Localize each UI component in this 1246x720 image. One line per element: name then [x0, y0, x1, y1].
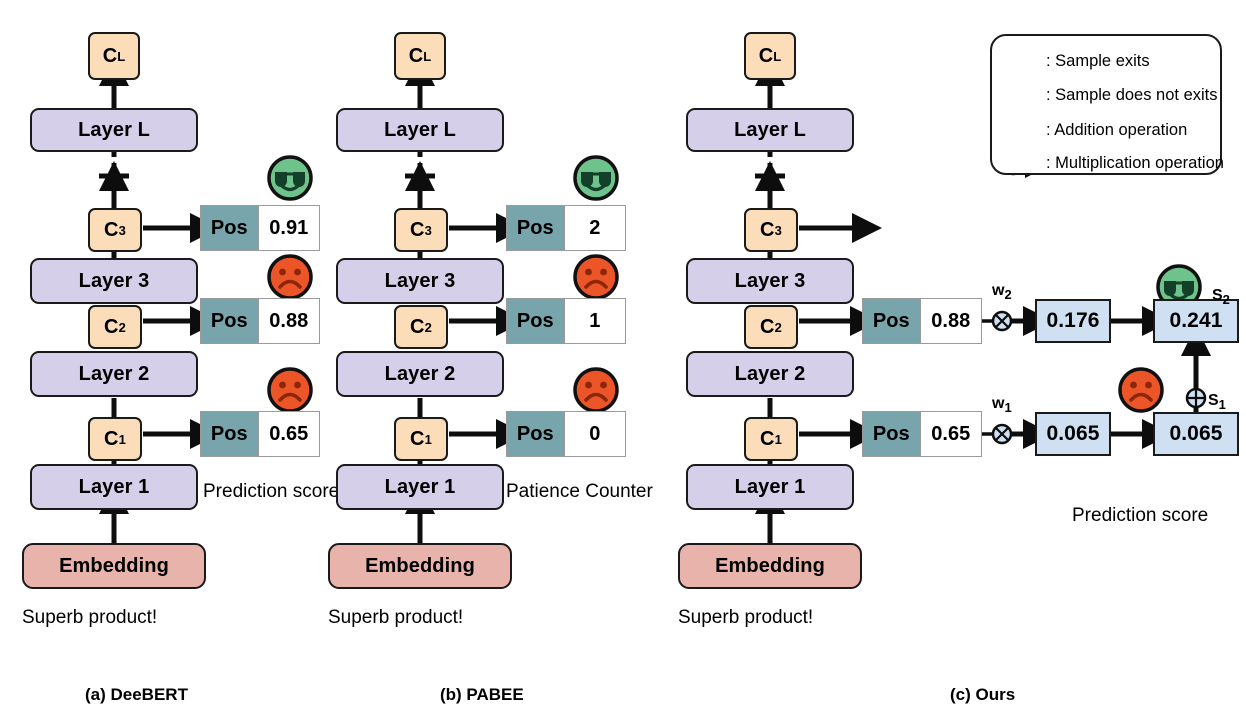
classifier-node-CL[interactable]: CL: [394, 32, 446, 80]
weight-symbol: w: [992, 282, 1004, 299]
pos-label: Pos: [507, 412, 564, 456]
classifier-label: C: [760, 219, 775, 242]
legend-item-multiplication-operation: : Multiplication operation: [1040, 152, 1224, 174]
pos-value: 2: [564, 206, 625, 250]
layer-node-L[interactable]: Layer L: [336, 108, 504, 152]
column-label-patience-counter: Patience Counter: [506, 481, 653, 503]
embedding-node[interactable]: Embedding: [22, 543, 206, 589]
pos-value: 0.88: [258, 299, 319, 343]
legend-label: : Addition operation: [1046, 121, 1187, 140]
layer-node-3[interactable]: Layer 3: [686, 258, 854, 304]
pos-label: Pos: [201, 299, 258, 343]
classifier-label: C: [409, 45, 424, 68]
pos-value: 0: [564, 412, 625, 456]
weighted-value-box-row1[interactable]: 0.065: [1035, 412, 1111, 456]
weight-subscript: 2: [1004, 287, 1011, 302]
layer-node-2[interactable]: Layer 2: [30, 351, 198, 397]
weight-label-w1: w1: [992, 395, 1012, 415]
classifier-subscript: 3: [775, 223, 782, 238]
pos-label: Pos: [201, 206, 258, 250]
s-symbol: S: [1208, 392, 1219, 409]
classifier-label: C: [104, 316, 119, 339]
pos-label: Pos: [507, 299, 564, 343]
layer-node-2[interactable]: Layer 2: [686, 351, 854, 397]
classifier-node-CL[interactable]: CL: [88, 32, 140, 80]
pos-value: 0.65: [258, 412, 319, 456]
layer-node-L[interactable]: Layer L: [686, 108, 854, 152]
readout-C1[interactable]: Pos 0.65: [200, 411, 320, 457]
classifier-node-C1[interactable]: C1: [744, 417, 798, 461]
pos-label: Pos: [507, 206, 564, 250]
classifier-subscript: 1: [119, 432, 126, 447]
readout-C2[interactable]: Pos 0.88: [200, 298, 320, 344]
pos-value: 0.91: [258, 206, 319, 250]
readout-C2[interactable]: Pos 1: [506, 298, 626, 344]
pos-value: 0.65: [920, 412, 981, 456]
legend-item-sample-exits: : Sample exits: [1040, 50, 1150, 72]
classifier-label: C: [410, 219, 425, 242]
input-sentence: Superb product!: [678, 607, 813, 629]
s-subscript: 1: [1219, 397, 1226, 412]
classifier-label: C: [103, 45, 118, 68]
classifier-node-C1[interactable]: C1: [88, 417, 142, 461]
classifier-subscript: 2: [119, 320, 126, 335]
readout-C2[interactable]: Pos 0.88: [862, 298, 982, 344]
pos-label: Pos: [863, 299, 920, 343]
embedding-node[interactable]: Embedding: [678, 543, 862, 589]
pos-label: Pos: [863, 412, 920, 456]
classifier-subscript: L: [117, 49, 125, 64]
classifier-subscript: 2: [775, 320, 782, 335]
classifier-node-CL[interactable]: CL: [744, 32, 796, 80]
classifier-node-C2[interactable]: C2: [744, 305, 798, 349]
accum-symbol-S1: S1: [1208, 392, 1226, 412]
layer-node-2[interactable]: Layer 2: [336, 351, 504, 397]
classifier-label: C: [760, 428, 775, 451]
classifier-node-C3[interactable]: C3: [744, 208, 798, 252]
layer-node-1[interactable]: Layer 1: [30, 464, 198, 510]
legend-item-addition-operation: : Addition operation: [1040, 119, 1187, 141]
s-symbol: S: [1212, 287, 1223, 304]
accum-symbol-S2: S2: [1212, 287, 1230, 307]
classifier-label: C: [410, 428, 425, 451]
layer-node-L[interactable]: Layer L: [30, 108, 198, 152]
classifier-subscript: 1: [775, 432, 782, 447]
pos-label: Pos: [201, 412, 258, 456]
panel-caption: (b) PABEE: [440, 685, 524, 705]
input-sentence: Superb product!: [22, 607, 157, 629]
classifier-label: C: [760, 316, 775, 339]
panel-caption: (a) DeeBERT: [85, 685, 188, 705]
pos-value: 0.88: [920, 299, 981, 343]
classifier-node-C3[interactable]: C3: [88, 208, 142, 252]
input-sentence: Superb product!: [328, 607, 463, 629]
readout-C1[interactable]: Pos 0.65: [862, 411, 982, 457]
weighted-value-box-row2[interactable]: 0.176: [1035, 299, 1111, 343]
column-label-prediction-score: Prediction score: [1072, 505, 1208, 527]
classifier-label: C: [410, 316, 425, 339]
layer-node-3[interactable]: Layer 3: [30, 258, 198, 304]
weight-symbol: w: [992, 395, 1004, 412]
classifier-subscript: 3: [119, 223, 126, 238]
legend-label: : Sample does not exits: [1046, 86, 1218, 105]
classifier-label: C: [104, 219, 119, 242]
panel-caption: (c) Ours: [950, 685, 1015, 705]
s-subscript: 2: [1223, 292, 1230, 307]
classifier-label: C: [759, 45, 774, 68]
legend-label: : Multiplication operation: [1046, 154, 1224, 173]
embedding-node[interactable]: Embedding: [328, 543, 512, 589]
classifier-node-C2[interactable]: C2: [394, 305, 448, 349]
classifier-node-C3[interactable]: C3: [394, 208, 448, 252]
classifier-label: C: [104, 428, 119, 451]
layer-node-1[interactable]: Layer 1: [336, 464, 504, 510]
weight-label-w2: w2: [992, 282, 1012, 302]
readout-C3[interactable]: Pos 2: [506, 205, 626, 251]
classifier-node-C2[interactable]: C2: [88, 305, 142, 349]
pos-value: 1: [564, 299, 625, 343]
figure-canvas: CL Layer L C3 Layer 3 C2 Layer 2 C1 Laye…: [0, 0, 1246, 720]
classifier-subscript: 3: [425, 223, 432, 238]
column-label-prediction-score: Prediction score: [203, 481, 339, 503]
weight-subscript: 1: [1004, 400, 1011, 415]
legend-item-sample-does-not-exit: : Sample does not exits: [1040, 84, 1218, 106]
classifier-subscript: L: [773, 49, 781, 64]
classifier-subscript: L: [423, 49, 431, 64]
legend-label: : Sample exits: [1046, 52, 1150, 71]
classifier-node-C1[interactable]: C1: [394, 417, 448, 461]
classifier-subscript: 1: [425, 432, 432, 447]
readout-C3[interactable]: Pos 0.91: [200, 205, 320, 251]
readout-C1[interactable]: Pos 0: [506, 411, 626, 457]
accumulated-value-box-S1[interactable]: 0.065: [1153, 412, 1239, 456]
classifier-subscript: 2: [425, 320, 432, 335]
layer-node-1[interactable]: Layer 1: [686, 464, 854, 510]
layer-node-3[interactable]: Layer 3: [336, 258, 504, 304]
